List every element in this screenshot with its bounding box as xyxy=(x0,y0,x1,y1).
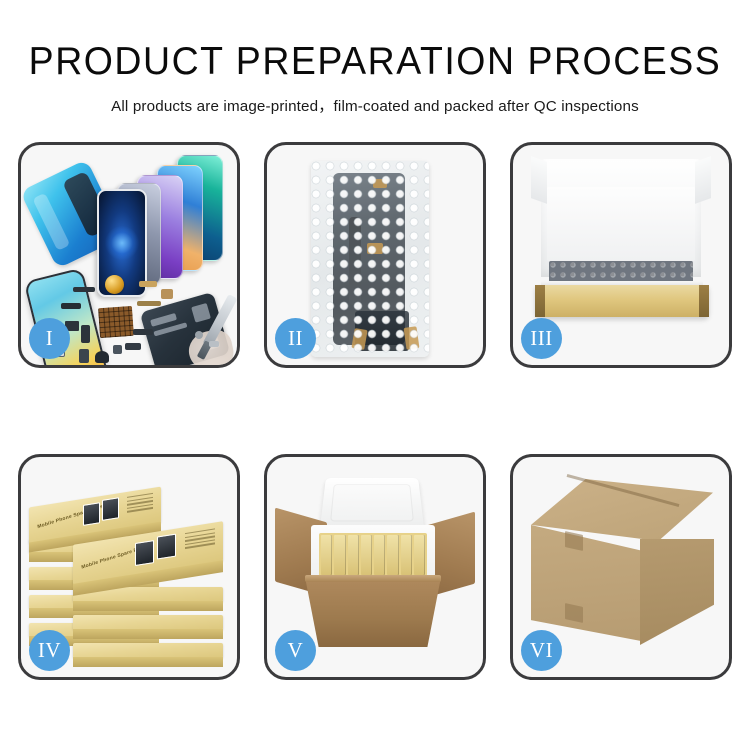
process-panel-6: VI xyxy=(510,454,732,680)
carton-rim xyxy=(305,575,441,582)
step-badge-3: III xyxy=(521,318,562,359)
box-phone-thumbnail xyxy=(83,502,100,526)
box-spec-lines xyxy=(185,528,215,551)
spare-part-icon xyxy=(125,343,141,350)
carton-body-icon xyxy=(305,577,441,647)
step-badge-4: IV xyxy=(29,630,70,671)
speaker-coil-icon xyxy=(105,275,124,294)
chip-grid-icon xyxy=(98,306,134,338)
foam-sheet-icon xyxy=(547,187,695,261)
process-panel-2: II xyxy=(264,142,486,368)
step-badge-5: V xyxy=(275,630,316,671)
spare-part-icon xyxy=(73,287,95,292)
sealed-carton-front xyxy=(531,525,641,641)
bubble-texture xyxy=(311,161,429,357)
process-panel-5: V xyxy=(264,454,486,680)
spare-part-icon xyxy=(133,329,153,335)
spare-part-icon xyxy=(79,349,89,363)
screw-icon xyxy=(209,341,219,347)
screw-icon xyxy=(195,331,203,339)
process-panel-grid: I II xyxy=(18,142,732,727)
box-phone-thumbnail xyxy=(157,534,176,560)
packed-retail-boxes xyxy=(319,533,427,577)
infographic-page: PRODUCT PREPARATION PROCESS All products… xyxy=(0,0,750,750)
process-panel-3: III xyxy=(510,142,732,368)
box-phone-thumbnail xyxy=(135,540,154,566)
box-spec-lines xyxy=(127,493,153,515)
step-badge-1: I xyxy=(29,318,70,359)
spare-part-icon xyxy=(95,351,109,363)
step-badge-2: II xyxy=(275,318,316,359)
kraft-box-body-icon xyxy=(535,285,709,317)
spare-part-icon xyxy=(61,303,81,309)
page-subtitle: All products are image-printed，film-coat… xyxy=(0,83,750,116)
spare-part-icon xyxy=(81,325,90,343)
phone-screen-lineup xyxy=(105,155,237,285)
page-title: PRODUCT PREPARATION PROCESS xyxy=(15,0,735,83)
spare-part-icon xyxy=(161,289,173,299)
header: PRODUCT PREPARATION PROCESS All products… xyxy=(0,0,750,116)
styrofoam-lid-icon xyxy=(320,478,424,529)
retail-box xyxy=(73,643,223,658)
box-phone-thumbnail xyxy=(102,497,119,521)
bubble-wrap-bag-icon xyxy=(311,161,429,357)
process-panel-1: I xyxy=(18,142,240,368)
sealed-carton-side xyxy=(640,539,714,645)
retail-box xyxy=(73,615,223,630)
spare-part-icon xyxy=(113,345,122,354)
spare-part-icon xyxy=(137,301,161,306)
step-badge-6: VI xyxy=(521,630,562,671)
spare-part-icon xyxy=(139,281,157,287)
process-panel-4: Mobile Phone Spare Parts Mobile Phone Sp… xyxy=(18,454,240,680)
